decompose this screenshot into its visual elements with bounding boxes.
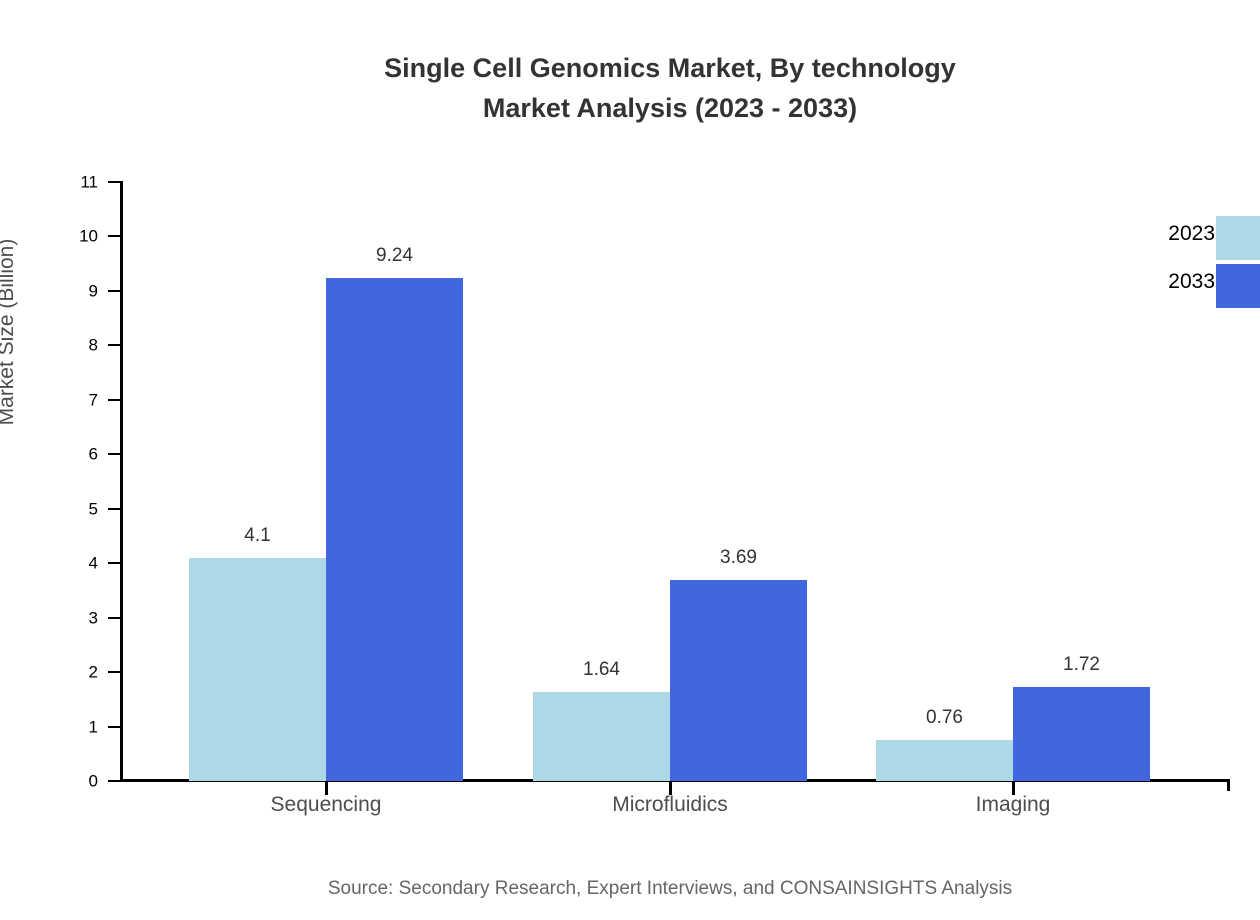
y-axis-tick-label: 11 <box>80 174 98 191</box>
bar[interactable] <box>533 692 670 781</box>
legend-item[interactable]: 2023 <box>1110 216 1260 260</box>
bar[interactable] <box>326 278 463 781</box>
bar[interactable] <box>189 558 326 781</box>
y-axis-tick <box>108 617 122 619</box>
chart-title: Single Cell Genomics Market, By technolo… <box>0 48 1260 128</box>
y-axis-tick <box>108 290 122 292</box>
x-axis-category-label: Sequencing <box>271 793 382 817</box>
y-axis-tick <box>108 453 122 455</box>
y-axis-tick-label: 9 <box>89 282 98 299</box>
y-axis-tick <box>108 562 122 564</box>
y-axis-tick <box>108 181 122 183</box>
y-axis-tick-label: 10 <box>79 228 98 245</box>
x-axis-category-label: Microfluidics <box>612 793 728 817</box>
y-axis-tick <box>108 726 122 728</box>
y-axis-tick <box>108 399 122 401</box>
y-axis-tick-label: 3 <box>89 609 98 626</box>
legend-item-label: 2023 <box>1168 222 1215 246</box>
bar-value-label: 0.76 <box>926 707 963 729</box>
y-axis-tick-label: 5 <box>89 500 98 517</box>
chart-legend: 20232033 <box>1110 216 1260 308</box>
legend-item[interactable]: 2033 <box>1110 264 1260 308</box>
legend-item-label: 2033 <box>1168 270 1215 294</box>
source-note: Source: Secondary Research, Expert Inter… <box>0 878 1260 900</box>
x-axis-category-label: Imaging <box>976 793 1051 817</box>
y-axis-tick <box>108 235 122 237</box>
y-axis-tick-label: 1 <box>89 718 98 735</box>
bar[interactable] <box>876 740 1013 781</box>
bar-value-label: 3.69 <box>720 547 757 569</box>
y-axis-title: Market Size (Billion) <box>0 182 19 482</box>
y-axis-tick-label: 7 <box>89 391 98 408</box>
chart-title-line-2: Market Analysis (2023 - 2033) <box>483 93 857 123</box>
y-axis-tick <box>108 344 122 346</box>
y-axis-tick <box>108 508 122 510</box>
y-axis-tick-label: 4 <box>89 555 98 572</box>
y-axis-tick <box>108 780 122 782</box>
chart-title-line-1: Single Cell Genomics Market, By technolo… <box>384 53 956 83</box>
chart-figure: Single Cell Genomics Market, By technolo… <box>0 0 1260 920</box>
bar[interactable] <box>670 580 807 781</box>
plot-area <box>122 182 1230 781</box>
y-axis-tick-label: 6 <box>89 446 98 463</box>
bar-value-label: 4.1 <box>244 525 270 547</box>
y-axis-tick-label: 2 <box>89 664 98 681</box>
bar-value-label: 1.64 <box>583 659 620 681</box>
y-axis-tick <box>108 671 122 673</box>
legend-color-swatch <box>1216 216 1260 260</box>
y-axis-tick-label: 8 <box>89 337 98 354</box>
legend-color-swatch <box>1216 264 1260 308</box>
bar[interactable] <box>1013 687 1150 781</box>
bar-value-label: 1.72 <box>1063 654 1100 676</box>
y-axis-tick-label: 0 <box>89 773 98 790</box>
bar-value-label: 9.24 <box>376 245 413 267</box>
